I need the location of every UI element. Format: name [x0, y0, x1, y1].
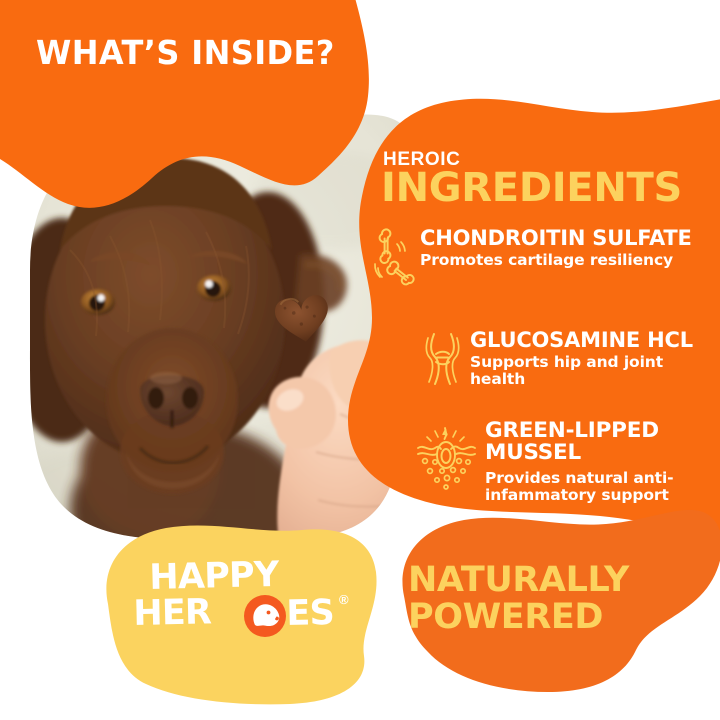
ingredient-name: GLUCOSAMINE HCL [470, 330, 715, 352]
joint-icon [420, 330, 466, 393]
ingredient-name: GREEN-LIPPED MUSSEL [485, 420, 685, 465]
ingredient-description: Provides natural anti-infammatory suppor… [485, 470, 685, 505]
claim-text: NATURALLY POWERED [408, 562, 658, 636]
bones-icon [370, 228, 416, 291]
brand-word-happy: HAPPY [149, 558, 279, 596]
ingredient-description: Promotes cartilage resiliency [420, 252, 720, 269]
ingredient-name: CHONDROITIN SULFATE [420, 228, 720, 250]
ingredient-description: Supports hip and joint health [470, 354, 715, 389]
dog-head-icon [243, 594, 287, 638]
ingredients-heading: INGREDIENTS [381, 168, 682, 208]
page-title: WHAT’S INSIDE? [36, 36, 356, 69]
brand-logo: HAPPY HER ES ® [133, 561, 363, 647]
skin-pore-icon [415, 424, 477, 495]
brand-word-her: HER [133, 595, 211, 632]
infographic-canvas: WHAT’S INSIDE? HEROIC INGREDIENTS [0, 0, 720, 720]
registered-trademark-mark: ® [339, 593, 349, 606]
headline-blob [0, 0, 369, 208]
brand-word-es: ES [286, 596, 334, 632]
